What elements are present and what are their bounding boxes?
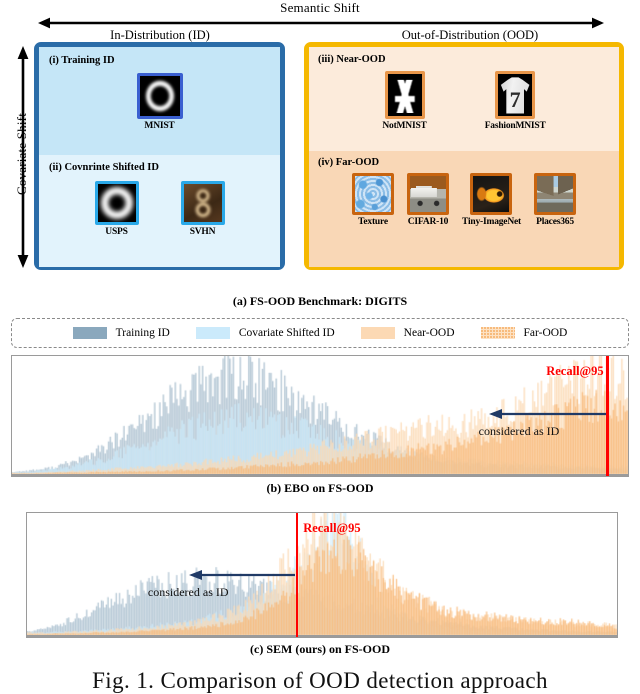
in-distribution-header: In-Distribution (ID) xyxy=(30,28,290,43)
far-ood-band: (iv) Far-OOD TextureCIFAR-10Tiny-ImageNe… xyxy=(309,151,619,267)
panel-b-caption: (b) EBO on FS-OOD xyxy=(0,481,640,496)
dataset-caption: SVHN xyxy=(181,227,225,237)
ebo-considered-as-id-arrow xyxy=(489,408,606,420)
dataset-thumb-texture: Texture xyxy=(352,173,394,227)
ebo-considered-as-id-label: considered as ID xyxy=(479,424,560,439)
legend-item-far-ood: Far-OOD xyxy=(481,327,568,339)
coastal-rocks-icon xyxy=(534,173,576,215)
dataset-caption: CIFAR-10 xyxy=(407,217,449,227)
figure-caption: Fig. 1. Comparison of OOD detection appr… xyxy=(0,668,640,694)
in-distribution-box: (i) Training ID MNIST (ii) Covnrinte Shi… xyxy=(34,42,285,270)
sem-histogram-panel: Recall@95 considered as ID xyxy=(26,512,618,638)
legend-item-training-id: Training ID xyxy=(73,327,170,339)
dataset-thumb-usps: USPS xyxy=(95,181,139,237)
dataset-thumb-svhn: SVHN xyxy=(181,181,225,237)
sem-considered-as-id-arrow xyxy=(189,569,295,581)
ebo-recall-threshold-line xyxy=(606,356,608,476)
dataset-thumb-cifar-10: CIFAR-10 xyxy=(407,173,449,227)
training-id-label: (i) Training ID xyxy=(49,55,115,66)
panel-a-caption: (a) FS-OOD Benchmark: DIGITS xyxy=(0,294,640,309)
dataset-caption: Tiny-ImageNet xyxy=(462,217,521,227)
tshirt-seven-icon: 7 xyxy=(495,71,535,119)
svhn-digit-eight-icon xyxy=(181,181,225,225)
legend-label: Training ID xyxy=(116,327,170,339)
near-ood-label: (iii) Near-OOD xyxy=(318,54,386,65)
legend-swatch xyxy=(361,327,395,339)
out-of-distribution-box: (iii) Near-OOD NotMNIST7FashionMNIST (iv… xyxy=(304,42,624,270)
letter-a-icon xyxy=(385,71,425,119)
panel-c-caption: (c) SEM (ours) on FS-OOD xyxy=(0,642,640,657)
legend-item-covariate-shifted-id: Covariate Shifted ID xyxy=(196,327,335,339)
dataset-thumb-fashionmnist: 7FashionMNIST xyxy=(485,71,546,131)
white-car-icon xyxy=(407,173,449,215)
semantic-shift-label: Semantic Shift xyxy=(0,0,640,16)
sem-baseline xyxy=(27,635,617,638)
goldfish-icon xyxy=(470,173,512,215)
histogram-legend: Training IDCovariate Shifted IDNear-OODF… xyxy=(11,318,629,348)
dataset-thumb-tiny-imagenet: Tiny-ImageNet xyxy=(462,173,521,227)
training-id-band: (i) Training ID MNIST xyxy=(39,47,280,155)
usps-digit-zero-icon xyxy=(95,181,139,225)
dataset-caption: Places365 xyxy=(534,217,576,227)
legend-swatch xyxy=(73,327,107,339)
sem-considered-as-id-label: considered as ID xyxy=(148,585,229,600)
dataset-caption: NotMNIST xyxy=(382,121,426,131)
ebo-histogram-panel: Recall@95 considered as ID xyxy=(11,355,629,477)
ebo-baseline xyxy=(12,474,628,477)
ebo-recall-label: Recall@95 xyxy=(546,364,603,379)
legend-label: Far-OOD xyxy=(524,327,568,339)
sem-recall-threshold-line xyxy=(296,513,298,637)
legend-swatch xyxy=(481,327,515,339)
out-of-distribution-header: Out-of-Distribution (OOD) xyxy=(310,28,630,43)
dataset-caption: Texture xyxy=(352,217,394,227)
dataset-caption: MNIST xyxy=(137,121,183,131)
dataset-thumb-notmnist: NotMNIST xyxy=(382,71,426,131)
dataset-caption: FashionMNIST xyxy=(485,121,546,131)
dataset-thumb-mnist: MNIST xyxy=(137,73,183,131)
fs-ood-benchmark-panel: (i) Training ID MNIST (ii) Covnrinte Shi… xyxy=(0,42,640,292)
sem-recall-label: Recall@95 xyxy=(303,521,360,536)
legend-label: Covariate Shifted ID xyxy=(239,327,335,339)
legend-item-near-ood: Near-OOD xyxy=(361,327,455,339)
near-ood-band: (iii) Near-OOD NotMNIST7FashionMNIST xyxy=(309,47,619,151)
dataset-thumb-places365: Places365 xyxy=(534,173,576,227)
legend-swatch xyxy=(196,327,230,339)
covariate-shifted-id-band: (ii) Covnrinte Shifted ID USPSSVHN xyxy=(39,155,280,267)
legend-label: Near-OOD xyxy=(404,327,455,339)
mnist-digit-zero-icon xyxy=(137,73,183,119)
dataset-caption: USPS xyxy=(95,227,139,237)
blue-bubbles-texture-icon xyxy=(352,173,394,215)
covariate-shifted-id-label: (ii) Covnrinte Shifted ID xyxy=(49,162,159,173)
far-ood-label: (iv) Far-OOD xyxy=(318,157,379,168)
